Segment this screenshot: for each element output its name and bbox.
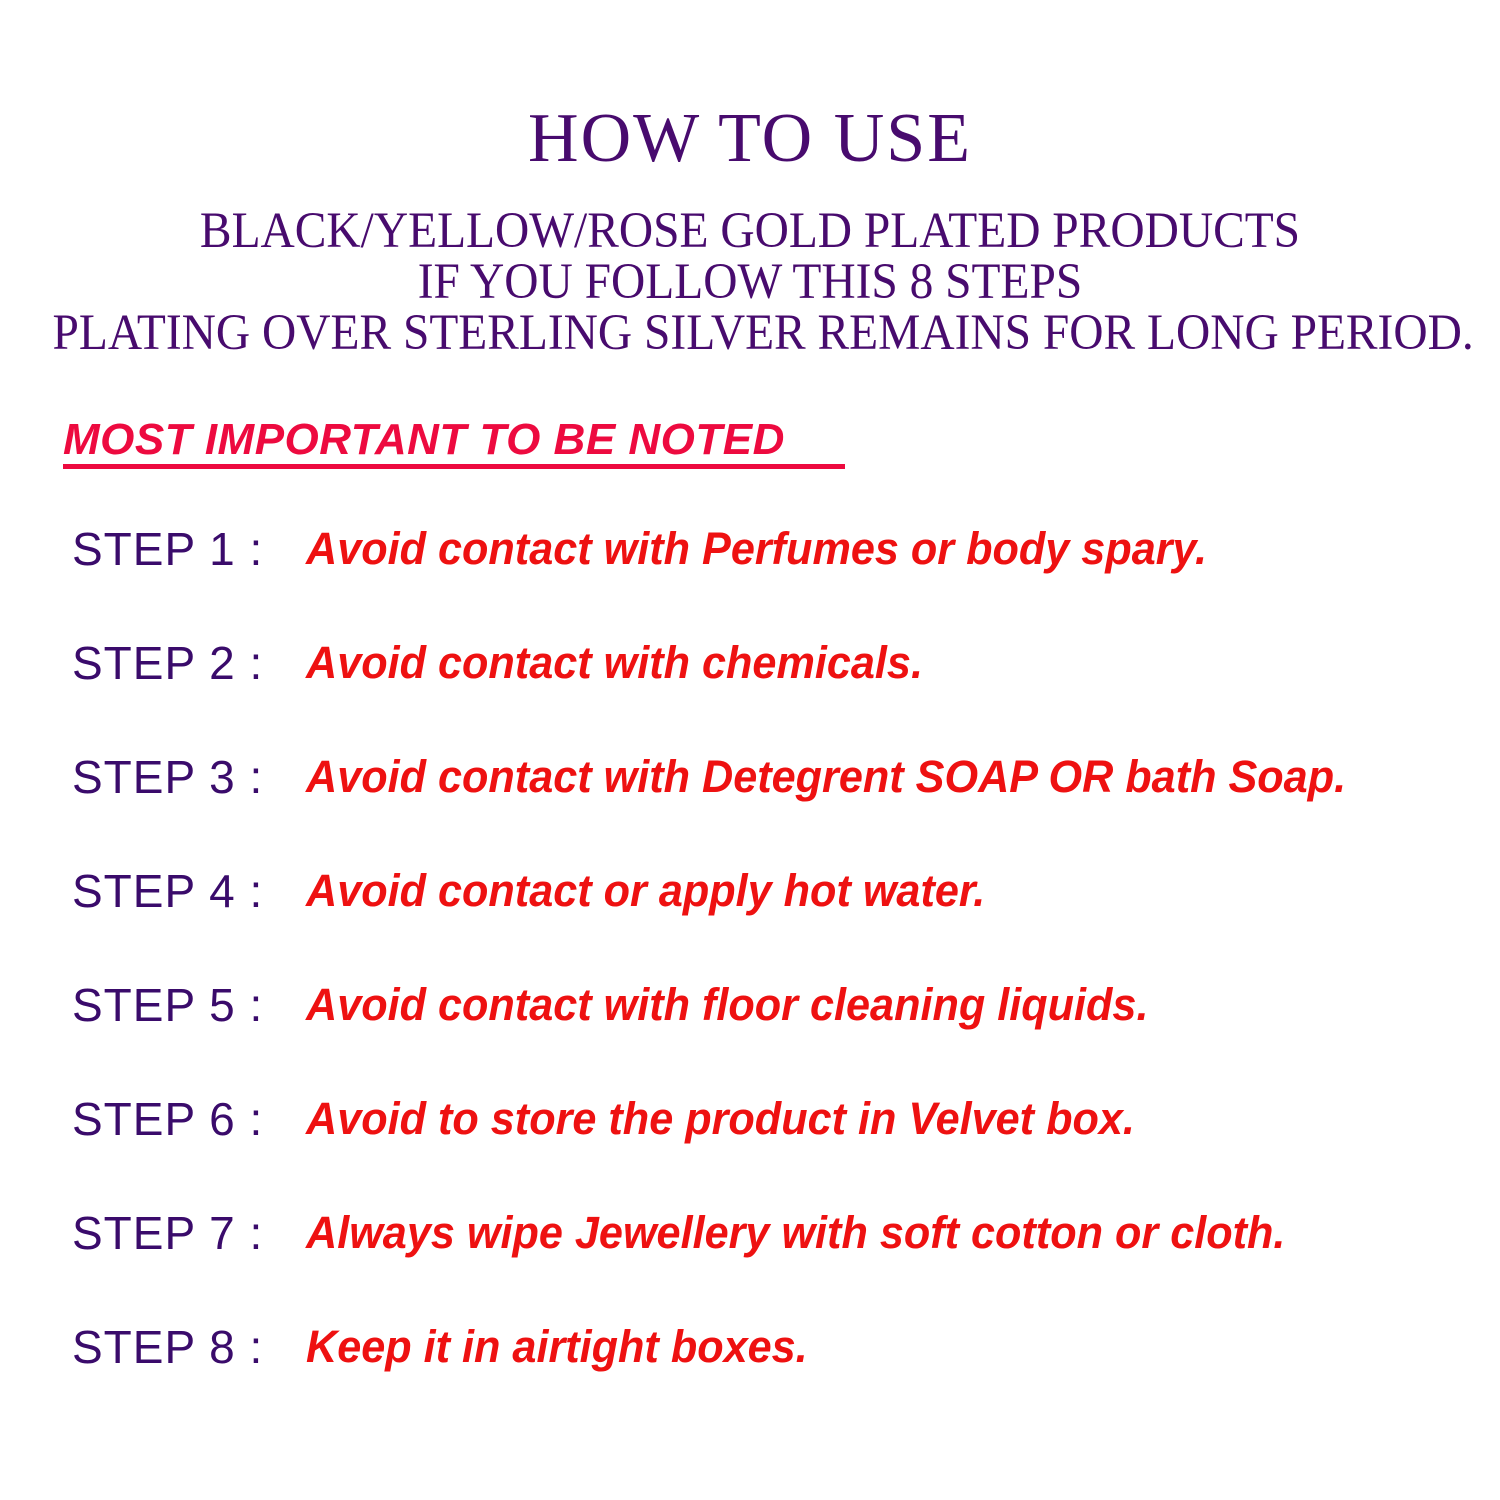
subtitle-line-1: BLACK/YELLOW/ROSE GOLD PLATED PRODUCTS — [53, 206, 1448, 257]
subtitle-line-2: IF YOU FOLLOW THIS 8 STEPS — [53, 257, 1448, 308]
step-label-2: STEP 2 : — [72, 633, 263, 693]
step-text-4: Avoid contact or apply hot water. — [306, 861, 985, 921]
step-label-4: STEP 4 : — [72, 861, 263, 921]
step-text-7: Always wipe Jewellery with soft cotton o… — [306, 1203, 1285, 1263]
step-row: STEP 3 : Avoid contact with Detegrent SO… — [0, 747, 1500, 861]
notice-heading: MOST IMPORTANT TO BE NOTED — [63, 416, 785, 464]
step-text-5: Avoid contact with floor cleaning liquid… — [306, 975, 1148, 1035]
step-label-3: STEP 3 : — [72, 747, 263, 807]
page-title: HOW TO USE — [0, 0, 1500, 174]
step-text-8: Keep it in airtight boxes. — [306, 1317, 808, 1377]
step-text-3: Avoid contact with Detegrent SOAP OR bat… — [306, 747, 1346, 807]
header-block: HOW TO USE BLACK/YELLOW/ROSE GOLD PLATED… — [0, 0, 1500, 359]
steps-list: STEP 1 : Avoid contact with Perfumes or … — [0, 519, 1500, 1431]
step-row: STEP 8 : Keep it in airtight boxes. — [0, 1317, 1500, 1431]
step-text-6: Avoid to store the product in Velvet box… — [306, 1089, 1135, 1149]
notice-underline — [63, 464, 845, 469]
step-text-2: Avoid contact with chemicals. — [306, 633, 923, 693]
step-row: STEP 5 : Avoid contact with floor cleani… — [0, 975, 1500, 1089]
step-label-6: STEP 6 : — [72, 1089, 263, 1149]
step-row: STEP 6 : Avoid to store the product in V… — [0, 1089, 1500, 1203]
step-text-1: Avoid contact with Perfumes or body spar… — [306, 519, 1207, 579]
subtitle-block: BLACK/YELLOW/ROSE GOLD PLATED PRODUCTS I… — [0, 174, 1500, 359]
subtitle-line-3: PLATING OVER STERLING SILVER REMAINS FOR… — [53, 308, 1448, 359]
instruction-card: HOW TO USE BLACK/YELLOW/ROSE GOLD PLATED… — [0, 0, 1500, 1500]
step-label-5: STEP 5 : — [72, 975, 263, 1035]
step-label-8: STEP 8 : — [72, 1317, 263, 1377]
step-row: STEP 2 : Avoid contact with chemicals. — [0, 633, 1500, 747]
step-row: STEP 7 : Always wipe Jewellery with soft… — [0, 1203, 1500, 1317]
step-label-1: STEP 1 : — [72, 519, 263, 579]
step-row: STEP 4 : Avoid contact or apply hot wate… — [0, 861, 1500, 975]
step-row: STEP 1 : Avoid contact with Perfumes or … — [0, 519, 1500, 633]
step-label-7: STEP 7 : — [72, 1203, 263, 1263]
